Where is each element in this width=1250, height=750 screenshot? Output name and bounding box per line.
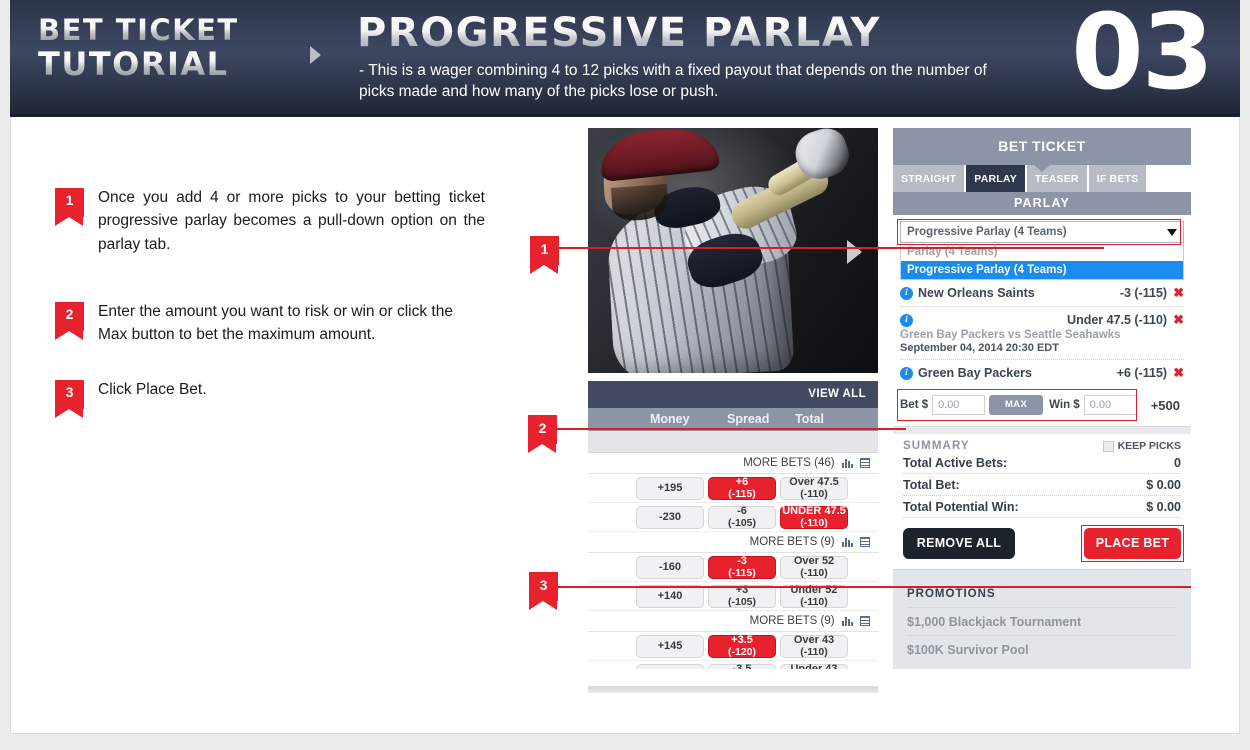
step-text: Once you add 4 or more picks to your bet… xyxy=(98,186,485,256)
summary-title: SUMMARY xyxy=(903,440,970,452)
spread-price: (-105) xyxy=(728,597,756,608)
odds-row: -230 -6 (-105) UNDER 47.5 (-110) xyxy=(588,503,878,532)
instruction-item: 2 Enter the amount you want to risk or w… xyxy=(55,300,485,347)
view-all-button[interactable]: VIEW ALL xyxy=(588,381,878,408)
callout-line-3 xyxy=(558,586,1191,588)
summary-value: $ 0.00 xyxy=(1146,478,1181,492)
board-game: MORE BETS (46) +195 +6 (-115) Over 47.5 … xyxy=(588,453,878,532)
total-price: (-110) xyxy=(800,597,827,608)
spread-price: (-120) xyxy=(728,647,756,658)
tutorial-page: BET TICKET TUTORIAL PROGRESSIVE PARLAY -… xyxy=(0,0,1250,750)
pick-name: New Orleans Saints xyxy=(918,286,1120,300)
section-divider xyxy=(893,426,1191,434)
money-odds: +145 xyxy=(658,641,683,653)
promotion-item[interactable]: $1,000 Blackjack Tournament xyxy=(907,607,1177,635)
carousel-next-arrow-icon[interactable] xyxy=(847,240,862,264)
callout-marker-3: 3 xyxy=(529,572,558,601)
money-chip[interactable]: +145 xyxy=(636,635,704,658)
instruction-item: 3 Click Place Bet. xyxy=(55,378,485,401)
spread-chip-selected[interactable]: -3 (-115) xyxy=(708,556,776,579)
max-button[interactable]: MAX xyxy=(989,395,1043,415)
remove-pick-icon[interactable]: ✖ xyxy=(1173,312,1184,328)
callout-line-1 xyxy=(559,247,1104,249)
summary-value: $ 0.00 xyxy=(1146,500,1181,514)
list-view-icon[interactable] xyxy=(860,537,870,547)
remove-pick-icon[interactable]: ✖ xyxy=(1173,365,1184,381)
list-item: i Under 47.5 (-110) ✖ Green Bay Packers … xyxy=(900,307,1184,360)
pick-name: Green Bay Packers xyxy=(918,366,1117,380)
total-chip[interactable]: Under 52 (-110) xyxy=(780,585,848,608)
parlay-type-option-selected[interactable]: Progressive Parlay (4 Teams) xyxy=(901,261,1183,279)
parlay-type-selected-label: Progressive Parlay (4 Teams) xyxy=(907,226,1067,238)
pick-matchup: Green Bay Packers vs Seattle Seahawks xyxy=(900,329,1184,341)
money-odds: -160 xyxy=(659,562,681,574)
summary-header: SUMMARY KEEP PICKS xyxy=(903,440,1181,452)
board-game: MORE BETS (9) -160 -3 (-115) Over 52 (-1… xyxy=(588,532,878,611)
money-chip[interactable]: -160 xyxy=(636,556,704,579)
callout-line-2 xyxy=(557,428,906,430)
tab-parlay[interactable]: PARLAY xyxy=(966,165,1027,192)
bet-amount-row: Bet $ 0.00 MAX Win $ 0.00 +500 xyxy=(900,392,1184,418)
step-number-badge: 03 xyxy=(1071,0,1212,108)
remove-pick-icon[interactable]: ✖ xyxy=(1173,285,1184,301)
brand-line2: TUTORIAL xyxy=(38,48,296,80)
pick-odds: -3 (-115) xyxy=(1120,286,1167,300)
total-price: (-110) xyxy=(800,568,827,579)
spread-price: (-105) xyxy=(728,518,756,529)
total-price: (-110) xyxy=(800,647,827,658)
more-bets-label: MORE BETS (46) xyxy=(743,457,834,469)
spread-chip[interactable]: +3 (-105) xyxy=(708,585,776,608)
step-marker: 1 xyxy=(55,188,84,217)
page-title: PROGRESSIVE PARLAY xyxy=(357,12,881,54)
pick-main-row: i New Orleans Saints -3 (-115) ✖ xyxy=(900,285,1184,301)
table-row: Total Active Bets: 0 xyxy=(903,452,1181,474)
money-chip[interactable]: +140 xyxy=(636,585,704,608)
more-bets-label: MORE BETS (9) xyxy=(750,615,835,627)
total-price: (-110) xyxy=(800,518,827,529)
instruction-item: 1 Once you add 4 or more picks to your b… xyxy=(55,186,485,256)
total-chip-selected[interactable]: UNDER 47.5 (-110) xyxy=(780,506,848,529)
spread-chip[interactable]: -6 (-105) xyxy=(708,506,776,529)
more-bets-row[interactable]: MORE BETS (46) xyxy=(588,453,878,474)
instruction-list: 1 Once you add 4 or more picks to your b… xyxy=(55,186,485,434)
header-banner: BET TICKET TUTORIAL PROGRESSIVE PARLAY -… xyxy=(10,0,1240,117)
board-games: MORE BETS (46) +195 +6 (-115) Over 47.5 … xyxy=(588,453,878,690)
list-item: i Green Bay Packers +6 (-115) ✖ xyxy=(900,360,1184,386)
more-bets-row[interactable]: MORE BETS (9) xyxy=(588,532,878,553)
bar-chart-icon[interactable] xyxy=(842,617,853,626)
money-odds: -230 xyxy=(659,512,681,524)
odds-row: +145 +3.5 (-120) Over 43 (-110) xyxy=(588,632,878,661)
odds-row: +195 +6 (-115) Over 47.5 (-110) xyxy=(588,474,878,503)
odds-row: -160 -3 (-115) Over 52 (-110) xyxy=(588,553,878,582)
callout-marker-1: 1 xyxy=(530,236,559,265)
spread-chip-selected[interactable]: +6 (-115) xyxy=(708,477,776,500)
info-icon[interactable]: i xyxy=(900,287,913,300)
place-bet-button[interactable]: PLACE BET xyxy=(1084,528,1181,559)
bet-ticket-title: BET TICKET xyxy=(893,128,1191,165)
more-bets-row[interactable]: MORE BETS (9) xyxy=(588,611,878,632)
bar-chart-icon[interactable] xyxy=(842,538,853,547)
chevron-right-icon xyxy=(310,46,321,64)
info-icon[interactable]: i xyxy=(900,314,913,327)
brand-line1: BET TICKET xyxy=(38,16,296,45)
step-marker: 3 xyxy=(55,380,84,409)
money-odds: +195 xyxy=(658,483,683,495)
total-chip[interactable]: Over 52 (-110) xyxy=(780,556,848,579)
list-item: i New Orleans Saints -3 (-115) ✖ xyxy=(900,280,1184,307)
keep-picks-toggle[interactable]: KEEP PICKS xyxy=(1103,440,1181,452)
tab-if-bets[interactable]: IF BETS xyxy=(1089,165,1149,192)
summary-label: Total Potential Win: xyxy=(903,500,1019,514)
total-chip[interactable]: Over 43 (-110) xyxy=(780,635,848,658)
list-view-icon[interactable] xyxy=(860,616,870,626)
more-bets-label: MORE BETS (9) xyxy=(750,536,835,548)
step-text: Enter the amount you want to risk or win… xyxy=(98,300,485,347)
win-amount-label: Win $ xyxy=(1049,399,1080,411)
brand-block: BET TICKET TUTORIAL xyxy=(38,16,296,80)
tab-straight[interactable]: STRAIGHT xyxy=(893,165,966,192)
chevron-down-icon[interactable] xyxy=(1167,229,1177,236)
total-chip[interactable]: Over 47.5 (-110) xyxy=(780,477,848,500)
promotions-title: PROMOTIONS xyxy=(907,588,1177,600)
total-price: (-110) xyxy=(800,489,827,500)
table-row: Total Bet: $ 0.00 xyxy=(903,474,1181,496)
spread-price: (-115) xyxy=(728,568,755,579)
pick-datetime: September 04, 2014 20:30 EDT xyxy=(900,342,1184,354)
pick-odds: Under 47.5 (-110) xyxy=(1067,313,1167,327)
money-odds: +140 xyxy=(658,591,683,603)
board-game-header-strip xyxy=(588,431,878,453)
sportsbook-hero-photo xyxy=(588,128,878,373)
keep-picks-label: KEEP PICKS xyxy=(1118,440,1181,452)
parlay-type-select[interactable]: Progressive Parlay (4 Teams) xyxy=(900,221,1184,243)
bet-amount-label: Bet $ xyxy=(900,399,928,411)
list-view-icon[interactable] xyxy=(860,458,870,468)
callout-marker-2: 2 xyxy=(528,415,557,444)
summary-value: 0 xyxy=(1174,456,1181,470)
pick-odds: +6 (-115) xyxy=(1117,366,1167,380)
money-chip[interactable]: +195 xyxy=(636,477,704,500)
promotions-section: PROMOTIONS $1,000 Blackjack Tournament $… xyxy=(893,569,1191,669)
info-icon[interactable]: i xyxy=(900,367,913,380)
bar-chart-icon[interactable] xyxy=(842,459,853,468)
bet-amount-input[interactable]: 0.00 xyxy=(932,395,985,415)
payout-odds: +500 xyxy=(1151,398,1180,413)
keep-picks-checkbox[interactable] xyxy=(1103,441,1114,452)
spread-chip-selected[interactable]: +3.5 (-120) xyxy=(708,635,776,658)
summary-label: Total Active Bets: xyxy=(903,456,1007,470)
spread-price: (-115) xyxy=(728,489,755,500)
pick-main-row: i Green Bay Packers +6 (-115) ✖ xyxy=(900,365,1184,381)
board-shadow xyxy=(588,687,878,693)
promotion-item[interactable]: $100K Survivor Pool xyxy=(907,635,1177,663)
parlay-section-title: PARLAY xyxy=(893,192,1191,215)
summary-section: SUMMARY KEEP PICKS Total Active Bets: 0 … xyxy=(893,434,1191,518)
pick-main-row: i Under 47.5 (-110) ✖ xyxy=(900,312,1184,328)
parlay-type-option[interactable]: Parlay (4 Teams) xyxy=(901,243,1183,261)
money-chip[interactable]: -230 xyxy=(636,506,704,529)
remove-all-button[interactable]: REMOVE ALL xyxy=(903,528,1015,559)
board-footer xyxy=(588,669,878,687)
summary-label: Total Bet: xyxy=(903,478,960,492)
bet-ticket-panel: BET TICKET STRAIGHT PARLAY TEASER IF BET… xyxy=(893,128,1191,728)
ticket-actions: REMOVE ALL PLACE BET xyxy=(893,518,1191,559)
page-subtitle: - This is a wager combining 4 to 12 pick… xyxy=(359,61,1019,103)
win-amount-input[interactable]: 0.00 xyxy=(1084,395,1137,415)
step-text: Click Place Bet. xyxy=(98,378,485,401)
table-row: Total Potential Win: $ 0.00 xyxy=(903,496,1181,518)
pick-list: i New Orleans Saints -3 (-115) ✖ i Under… xyxy=(893,280,1191,386)
step-marker: 2 xyxy=(55,302,84,331)
